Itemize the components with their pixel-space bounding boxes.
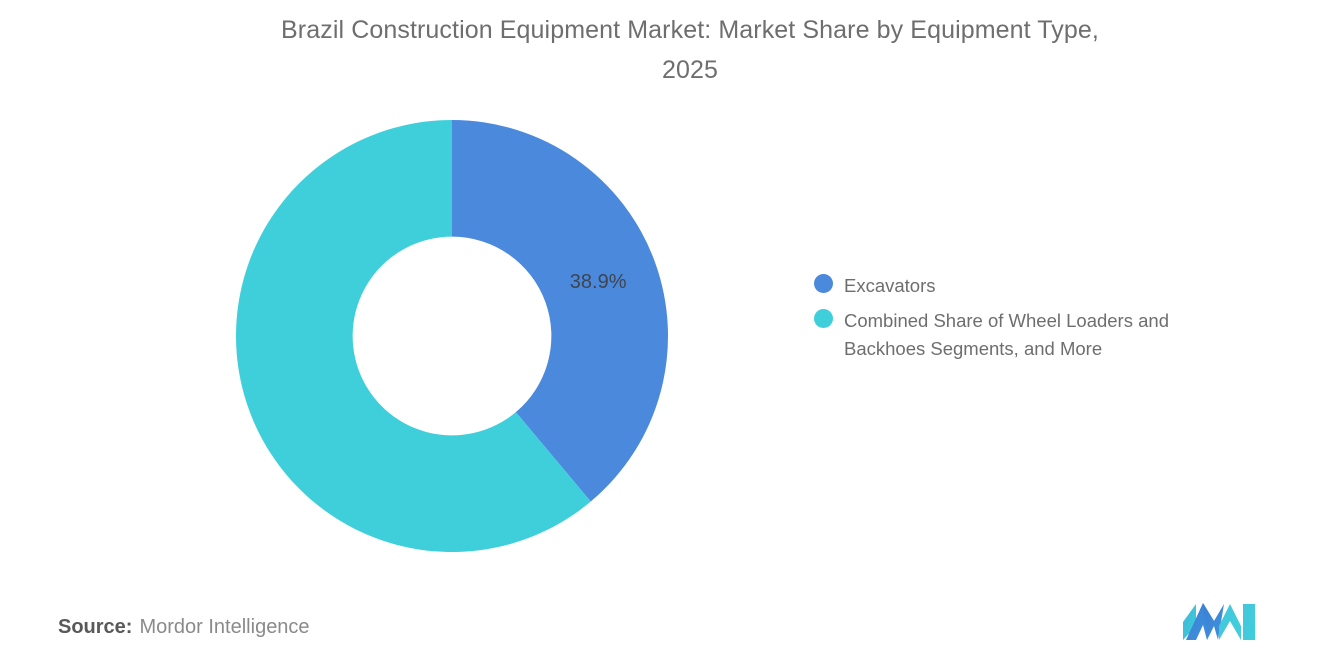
legend-label-excavators: Excavators bbox=[844, 272, 936, 300]
donut-chart-svg: 38.9% bbox=[236, 120, 668, 552]
donut-chart: 38.9% bbox=[236, 120, 668, 552]
source-label: Source: bbox=[58, 616, 132, 638]
source-value: Mordor Intelligence bbox=[139, 616, 309, 638]
legend-swatch-icon-excavators bbox=[814, 274, 833, 293]
mordor-intelligence-logo-icon bbox=[1183, 596, 1257, 640]
legend-swatch-icon-combined-share bbox=[814, 309, 833, 328]
chart-title-line-2: 2025 bbox=[160, 50, 1220, 90]
chart-title-line-1: Brazil Construction Equipment Market: Ma… bbox=[160, 10, 1220, 50]
donut-slice-group bbox=[236, 120, 668, 552]
slice-data-label-excavators: 38.9% bbox=[570, 271, 627, 293]
chart-legend: Excavators Combined Share of Wheel Loade… bbox=[814, 272, 1254, 370]
legend-label-combined-share: Combined Share of Wheel Loaders and Back… bbox=[844, 307, 1244, 363]
logo-svg bbox=[1183, 596, 1257, 640]
legend-item-combined-share[interactable]: Combined Share of Wheel Loaders and Back… bbox=[814, 307, 1254, 363]
source-attribution: Source:Mordor Intelligence bbox=[58, 612, 310, 642]
legend-item-excavators[interactable]: Excavators bbox=[814, 272, 1254, 300]
chart-title: Brazil Construction Equipment Market: Ma… bbox=[160, 10, 1220, 90]
